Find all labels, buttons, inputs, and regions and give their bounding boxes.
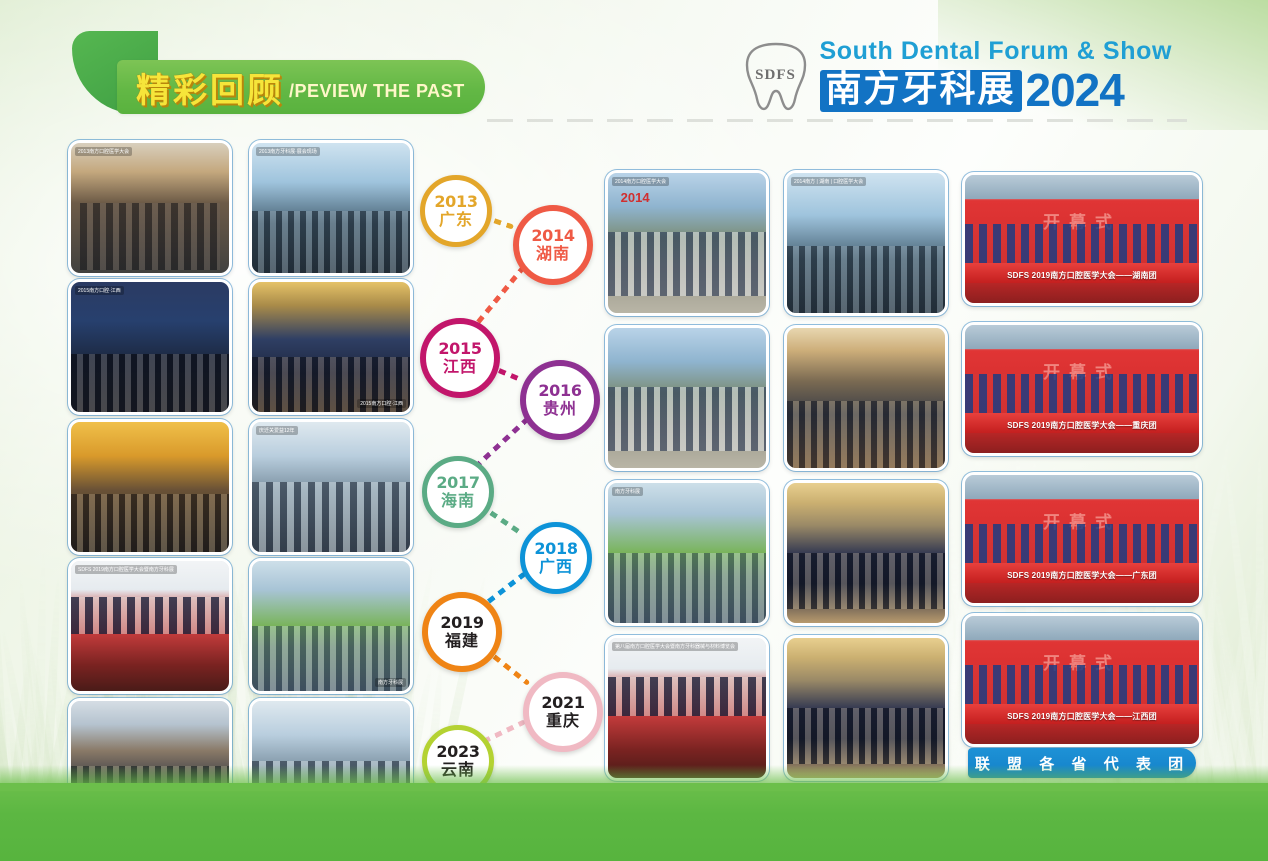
logo-line-en: South Dental Forum & Show: [820, 39, 1173, 64]
photo-banner-text: SDFS 2019南方口腔医学大会——重庆团: [972, 420, 1192, 431]
photo-caption: 第八届南方口腔医学大会暨南方牙科器械与材料博览会: [612, 642, 738, 651]
timeline-node-province: 贵州: [543, 400, 577, 418]
timeline-node-year: 2015: [438, 341, 481, 358]
timeline-node-province: 江西: [443, 358, 477, 376]
photo-image: [71, 143, 229, 273]
timeline-node-2017[interactable]: 2017海南: [422, 456, 494, 528]
photo-image: [71, 282, 229, 412]
photo-caption: 2015南方口腔·江西: [75, 286, 124, 295]
photo-delegation-hunan: 开幕式SDFS 2019南方口腔医学大会——湖南团: [962, 172, 1202, 306]
photo-opening-ceremony-stage: 第八届南方口腔医学大会暨南方牙科器械与材料博览会: [605, 635, 769, 781]
photo-image: [787, 483, 945, 623]
photo-image: [252, 561, 410, 691]
timeline-node-year: 2023: [436, 744, 479, 761]
photo-caption: 2015南方口腔·江西: [357, 399, 406, 408]
photo-image: 开幕式SDFS 2019南方口腔医学大会——广东团: [965, 475, 1199, 603]
timeline-node-province: 广东: [439, 211, 473, 229]
timeline-node-year: 2021: [541, 695, 584, 712]
photo-image: [787, 638, 945, 778]
header-divider: [487, 119, 1187, 122]
photo-overlay-year: 2014: [621, 190, 650, 205]
photo-plenary-ballroom: [784, 635, 948, 781]
photo-backdrop-top: [965, 475, 1199, 499]
photo-image: [608, 638, 766, 778]
photo-caption: 2013南方牙科展·展会现场: [256, 147, 320, 156]
photo-image: [787, 173, 945, 313]
photo-image: [252, 422, 410, 552]
photo-caption: 2013南方口腔医学大会: [75, 147, 132, 156]
photo-golden-ballroom: [68, 419, 232, 555]
timeline-node-2014[interactable]: 2014湖南: [513, 205, 593, 285]
photo-caption: 南方牙科展: [612, 487, 643, 496]
photo-2016-guizhou-hall: [784, 325, 948, 471]
photo-image: [252, 143, 410, 273]
photo-image: [252, 282, 410, 412]
photo-2013-guangdong-booth: 2013南方牙科展·展会现场: [249, 140, 413, 276]
timeline-node-province: 海南: [441, 492, 475, 510]
photo-exhibition-booth: 庆迁关爱益12年: [249, 419, 413, 555]
logo-mark-text: SDFS: [742, 67, 810, 84]
photo-image: 开幕式SDFS 2019南方口腔医学大会——重庆团: [965, 325, 1199, 453]
photo-delegation-row: [965, 374, 1199, 418]
photo-banner-text: SDFS 2019南方口腔医学大会——广东团: [972, 570, 1192, 581]
photo-2015-jiangxi-hall: 2015南方口腔·江西: [68, 279, 232, 415]
timeline-node-year: 2013: [434, 194, 477, 211]
photo-backdrop-top: [965, 616, 1199, 640]
timeline-node-year: 2018: [534, 541, 577, 558]
photo-2019-opening-group: SDFS 2019南方口腔医学大会暨南方牙科展: [68, 558, 232, 694]
photo-image: [608, 328, 766, 468]
timeline-node-year: 2016: [538, 383, 581, 400]
timeline-node-year: 2017: [436, 475, 479, 492]
photo-delegation-chongqing: 开幕式SDFS 2019南方口腔医学大会——重庆团: [962, 322, 1202, 456]
timeline-connector: [483, 571, 526, 606]
photo-caption: 2014南方 | 湖南 | 口腔医学大会: [791, 177, 866, 186]
photo-image: 开幕式SDFS 2019南方口腔医学大会——湖南团: [965, 175, 1199, 303]
photo-delegation-row: [965, 524, 1199, 568]
timeline-connector: [476, 417, 530, 467]
timeline-node-province: 广西: [539, 558, 573, 576]
photo-exhibition-floor: 南方牙科展: [249, 558, 413, 694]
page-title: 精彩回顾: [136, 63, 284, 112]
photo-caption: 庆迁关爱益12年: [256, 426, 298, 435]
photo-image: [71, 561, 229, 691]
photo-2018-guangxi-hall: [784, 480, 948, 626]
photo-2014-hunan-hall: 2014南方 | 湖南 | 口腔医学大会: [784, 170, 948, 316]
photo-image: [787, 328, 945, 468]
photo-delegation-jiangxi: 开幕式SDFS 2019南方口腔医学大会——江西团: [962, 613, 1202, 747]
photo-banner-text: SDFS 2019南方口腔医学大会——湖南团: [972, 270, 1192, 281]
page-title-banner: 精彩回顾 /PEVIEW THE PAST: [117, 60, 485, 114]
photo-2018-guangxi-expo: 南方牙科展: [605, 480, 769, 626]
timeline-node-year: 2019: [440, 615, 483, 632]
photo-caption: 2014南方口腔医学大会: [612, 177, 669, 186]
timeline-node-province: 重庆: [546, 712, 580, 730]
poster-page: 精彩回顾 /PEVIEW THE PAST SDFS South Dental …: [0, 0, 1268, 861]
brand-logo: SDFS South Dental Forum & Show 南方牙科展 202…: [742, 36, 1173, 116]
photo-banner-text: SDFS 2019南方口腔医学大会——江西团: [972, 711, 1192, 722]
timeline-node-province: 湖南: [536, 245, 570, 263]
photo-caption: SDFS 2019南方口腔医学大会暨南方牙科展: [75, 565, 177, 574]
bottom-green-band: [0, 783, 1268, 861]
photo-2013-guangdong-lecture: 2013南方口腔医学大会: [68, 140, 232, 276]
timeline-connector: [475, 265, 526, 326]
timeline-node-province: 福建: [445, 632, 479, 650]
timeline-connector: [482, 719, 526, 744]
photo-backdrop-top: [965, 325, 1199, 349]
timeline-node-2015[interactable]: 2015江西: [420, 318, 500, 398]
timeline-node-2018[interactable]: 2018广西: [520, 522, 592, 594]
timeline-node-2016[interactable]: 2016贵州: [520, 360, 600, 440]
logo-year: 2024: [1026, 69, 1124, 113]
photo-caption: 南方牙科展: [375, 678, 406, 687]
photo-delegation-guangdong: 开幕式SDFS 2019南方口腔医学大会——广东团: [962, 472, 1202, 606]
timeline-node-2021[interactable]: 2021重庆: [523, 672, 603, 752]
photo-delegation-row: [965, 665, 1199, 709]
photo-image: [608, 483, 766, 623]
timeline-node-year: 2014: [531, 228, 574, 245]
photo-image: [71, 422, 229, 552]
photo-2016-guizhou-group: [605, 325, 769, 471]
timeline-node-2013[interactable]: 2013广东: [420, 175, 492, 247]
tooth-outline-icon: SDFS: [742, 39, 810, 113]
photo-delegation-row: [965, 224, 1199, 268]
logo-line-cn: 南方牙科展: [820, 70, 1022, 112]
page-title-en: /PEVIEW THE PAST: [289, 81, 465, 102]
timeline: 2013广东2014湖南2015江西2016贵州2017海南2018广西2019…: [408, 160, 608, 820]
timeline-node-2019[interactable]: 2019福建: [422, 592, 502, 672]
photo-2014-hunan-group: 20142014南方口腔医学大会: [605, 170, 769, 316]
photo-2015-jiangxi-dome: 2015南方口腔·江西: [249, 279, 413, 415]
photo-backdrop-top: [965, 175, 1199, 199]
photo-image: 开幕式SDFS 2019南方口腔医学大会——江西团: [965, 616, 1199, 744]
